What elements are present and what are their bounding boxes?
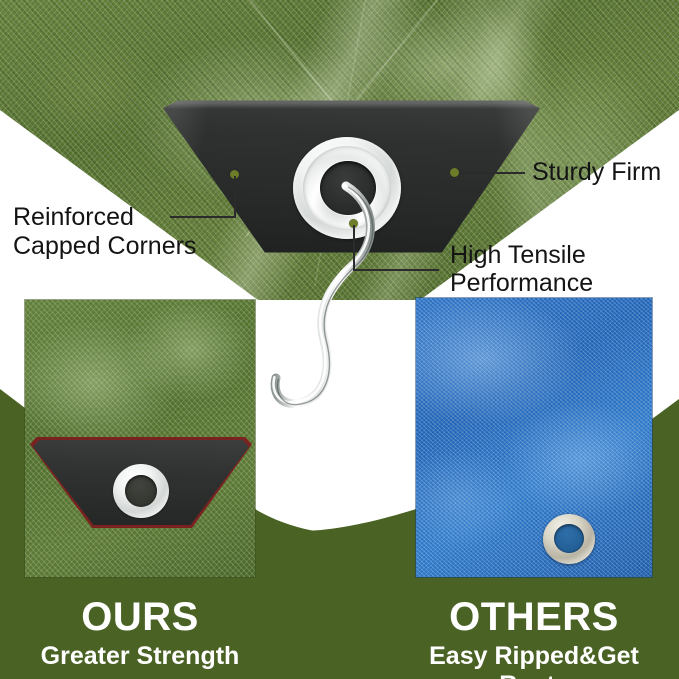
others-grommet-hole — [554, 524, 584, 553]
callout-label-reinforced-line1: Reinforced — [13, 203, 134, 232]
comparison-subtitle-ours: Greater Strength — [10, 642, 270, 671]
callout-label-high-tensile-line1: High Tensile — [450, 241, 586, 270]
callout-dot-sturdy-firm — [450, 168, 459, 177]
callout-label-reinforced-line2: Capped Corners — [13, 232, 196, 261]
callout-line-sturdy-firm — [459, 172, 525, 174]
comparison-card-others-image — [416, 298, 652, 577]
comparison-title-others: OTHERS — [416, 595, 652, 640]
infographic-canvas: Reinforced Capped Corners Sturdy Firm Hi… — [0, 0, 679, 679]
callout-line-high-tensile-vertical — [353, 225, 355, 270]
ours-grommet-hole — [125, 475, 157, 507]
callout-label-high-tensile-line2: Performance — [450, 269, 593, 298]
callout-line-reinforced-horizontal — [170, 216, 236, 218]
comparison-subtitle-others: Easy Ripped&Get Rusty — [392, 642, 676, 679]
comparison-title-ours: OURS — [25, 595, 255, 640]
comparison-card-ours-image — [25, 300, 255, 577]
callout-line-high-tensile-horizontal — [353, 269, 439, 271]
callout-line-reinforced-vertical — [234, 176, 236, 217]
callout-label-sturdy-firm: Sturdy Firm — [532, 158, 661, 187]
